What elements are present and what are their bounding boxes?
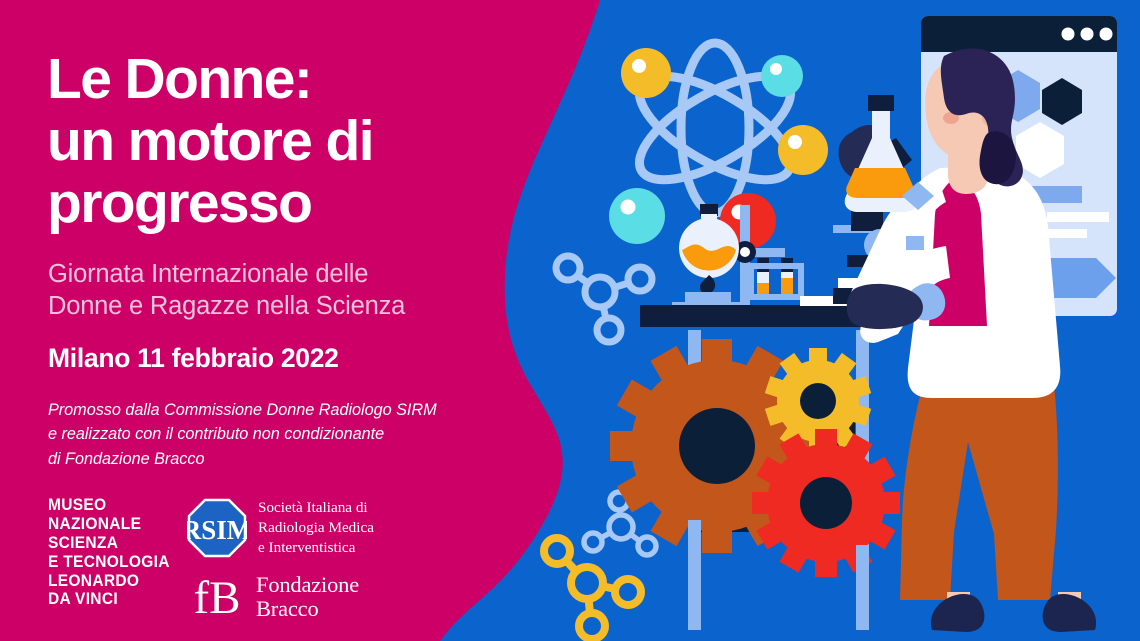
promo-text: Promosso dalla Commissione Donne Radiolo…: [48, 398, 488, 471]
promo-line-1: Promosso dalla Commissione Donne Radiolo…: [48, 398, 488, 422]
sirm-line-2: Radiologia Medica: [258, 518, 374, 538]
sirm-line-3: e Interventistica: [258, 538, 374, 558]
promo-line-3: di Fondazione Bracco: [48, 447, 488, 471]
sirm-monogram: RSIM: [187, 515, 247, 545]
sirm-octagon-icon: RSIM: [187, 498, 247, 558]
atom-electron-1: [621, 48, 671, 98]
subtitle-line-1: Giornata Internazionale delle: [48, 258, 478, 290]
gear-medium-hub: [800, 477, 852, 529]
erlenmeyer-liquid: [846, 168, 914, 198]
museo-line-2: NAZIONALE: [48, 515, 170, 534]
headline-line-1: Le Donne:: [47, 49, 517, 111]
headline-line-3: progresso: [47, 173, 517, 235]
logo-row: MUSEO NAZIONALE SCIENZA E TECNOLOGIA LEO…: [48, 496, 468, 631]
flask-neck-cap: [868, 95, 894, 111]
coat-detail-square: [906, 236, 924, 250]
logo-fondazione-bracco[interactable]: fB Fondazione Bracco: [187, 569, 359, 625]
museo-line-3: SCIENZA: [48, 534, 170, 553]
event-date: Milano 11 febbraio 2022: [48, 343, 339, 374]
museo-line-1: MUSEO: [48, 496, 170, 515]
atom-electron-5: [609, 188, 665, 244]
atom-electron-3: [778, 125, 828, 175]
screen-bar-3: [1047, 229, 1087, 238]
monitor-dot-2: [1081, 28, 1094, 41]
bench-leg-right-lower: [856, 545, 869, 630]
bracco-line-1: Fondazione: [256, 573, 359, 597]
bracco-monogram-icon: fB: [187, 569, 247, 625]
monitor-dot-3: [1100, 28, 1113, 41]
sirm-line-1: Società Italiana di: [258, 498, 374, 518]
bracco-monogram: fB: [194, 572, 241, 624]
logo-museo-nazionale[interactable]: MUSEO NAZIONALE SCIENZA E TECNOLOGIA LEO…: [48, 496, 170, 609]
gear-large-hub: [679, 408, 755, 484]
text-column: Le Donne: un motore di progresso Giornat…: [47, 0, 517, 641]
museo-line-5: LEONARDO: [48, 572, 170, 591]
bench-leg-left-lower: [688, 520, 701, 630]
subtitle-line-2: Donne e Ragazze nella Scienza: [48, 290, 478, 322]
headline-line-2: un motore di: [47, 111, 517, 173]
bracco-line-2: Bracco: [256, 597, 359, 621]
logo-sirm[interactable]: RSIM Società Italiana di Radiologia Medi…: [187, 498, 374, 558]
sirm-name: Società Italiana di Radiologia Medica e …: [258, 498, 374, 557]
monitor-dot-1: [1062, 28, 1075, 41]
gear-small-hub: [800, 383, 836, 419]
promo-line-2: e realizzato con il contributo non condi…: [48, 422, 488, 446]
screen-bar-2: [1047, 212, 1109, 222]
museo-line-6: DA VINCI: [48, 590, 170, 609]
museo-line-4: E TECNOLOGIA: [48, 553, 170, 572]
bracco-name: Fondazione Bracco: [256, 573, 359, 622]
flask-stand-knob-center: [740, 247, 750, 257]
atom-electron-2: [761, 55, 803, 97]
page-title: Le Donne: un motore di progresso: [47, 49, 517, 235]
poster-canvas: Le Donne: un motore di progresso Giornat…: [0, 0, 1140, 641]
event-subtitle: Giornata Internazionale delle Donne e Ra…: [48, 258, 478, 323]
